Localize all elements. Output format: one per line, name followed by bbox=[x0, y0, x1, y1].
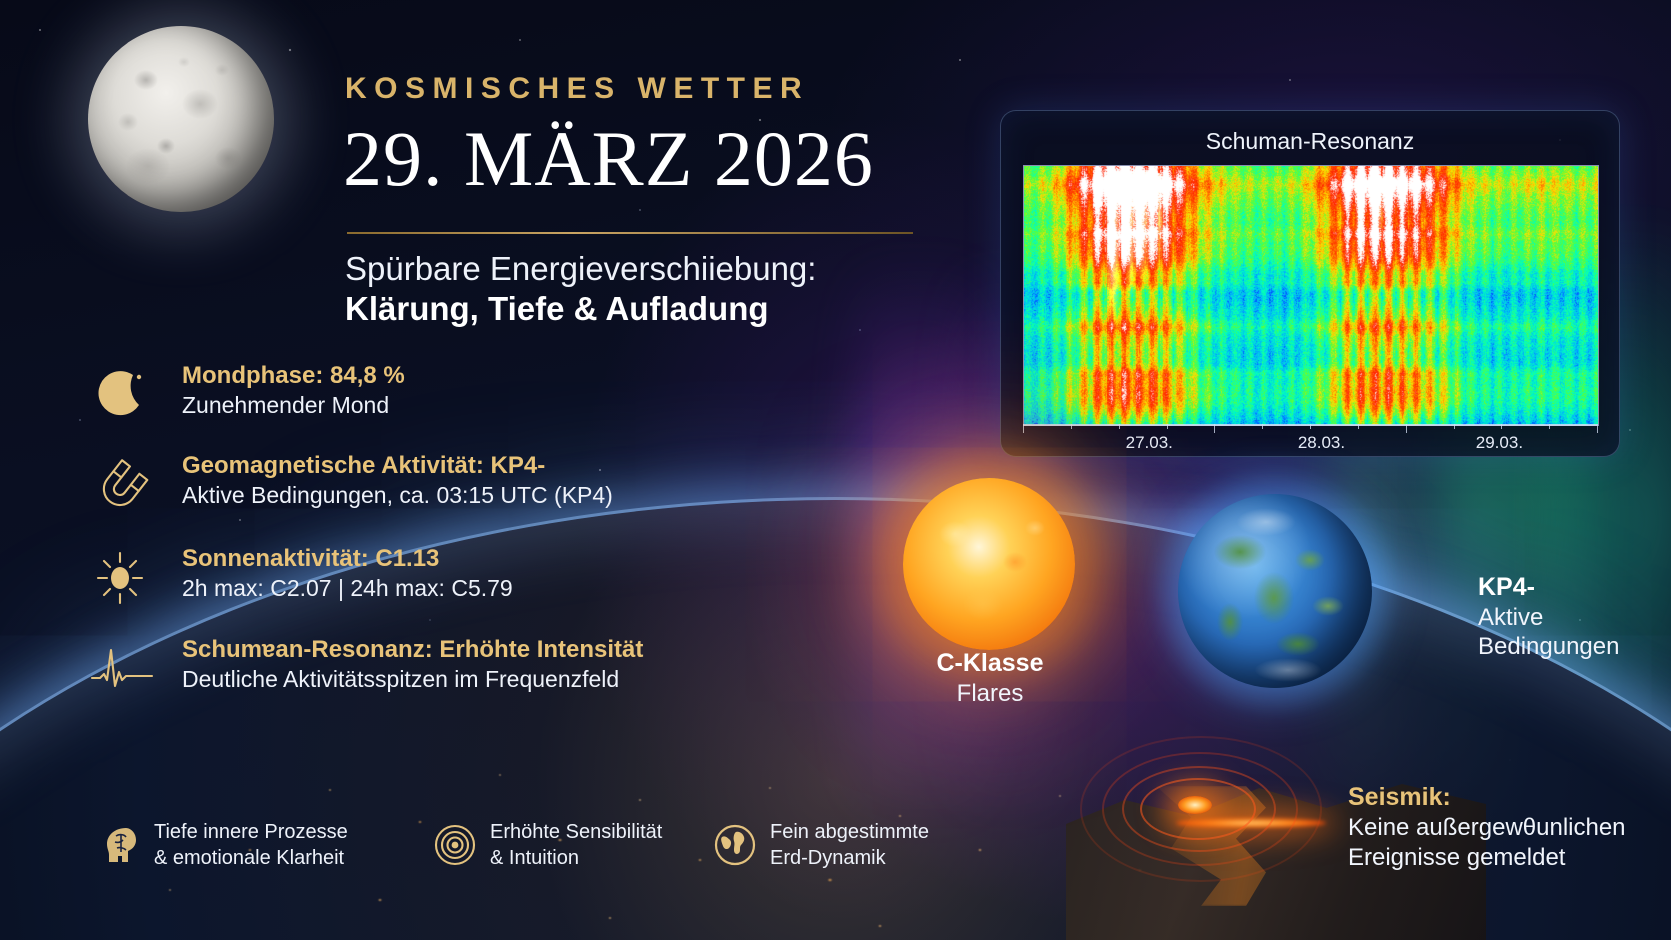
callout-line-1: Keine außergewθunlichen bbox=[1348, 813, 1626, 842]
bottom-item-line-1: Erhöhte Sensibilität bbox=[490, 819, 662, 845]
globe-icon bbox=[712, 822, 758, 868]
spectrogram-plot bbox=[1023, 165, 1599, 426]
stat-headline: Mondphase: 84,8 % bbox=[182, 362, 405, 390]
bottom-item-line-1: Tiefe innere Prozesse bbox=[154, 819, 348, 845]
waveform-icon bbox=[90, 638, 156, 698]
callout-title: KP4- bbox=[1478, 572, 1619, 603]
chart-tick bbox=[1454, 424, 1455, 429]
crescent-moon-icon bbox=[90, 364, 156, 424]
bottom-item-line-1: Fein abgestimmte bbox=[770, 819, 929, 845]
stat-subline: Zunehmender Mond bbox=[182, 392, 405, 419]
chart-tick bbox=[1549, 424, 1550, 429]
chart-tick bbox=[1167, 424, 1168, 429]
bottom-item-line-2: Erd-Dynamik bbox=[770, 845, 929, 871]
chart-tick bbox=[1358, 424, 1359, 429]
callout-line-2: Bedingungen bbox=[1478, 632, 1619, 661]
chart-tick bbox=[1119, 424, 1120, 429]
sun-image bbox=[903, 478, 1075, 650]
subtitle-line-1: Spürbare Energieverschiiebung: bbox=[345, 250, 816, 288]
callout-line-1: Aktive bbox=[1478, 603, 1619, 632]
magnet-icon bbox=[90, 454, 156, 514]
callout-kp-index: KP4- Aktive Bedingungen bbox=[1478, 572, 1619, 661]
chart-tick bbox=[1310, 424, 1311, 429]
title-divider bbox=[347, 232, 913, 234]
stat-subline: Aktive Bedingungen, ca. 03:15 UTC (KP4) bbox=[182, 482, 613, 509]
concentric-spiral-icon bbox=[432, 822, 478, 868]
callout-title: C-Klasse bbox=[905, 648, 1075, 679]
brain-head-icon bbox=[96, 822, 142, 868]
page-title: 29. MÄRZ 2026 bbox=[343, 120, 874, 198]
moon-image bbox=[88, 26, 274, 212]
stat-subline: Deutliche Aktivitätsspitzen im Frequenzf… bbox=[182, 666, 643, 693]
bottom-item-text: Tiefe innere Prozesse & emotionale Klarh… bbox=[154, 819, 348, 872]
earth-globe-image bbox=[1178, 494, 1372, 688]
chart-x-label: 27.03. bbox=[1126, 433, 1173, 453]
stat-headline: Schumɐan-Resonanz: Erhöhte Intensität bbox=[182, 636, 643, 664]
sun-icon bbox=[90, 547, 156, 607]
chart-x-label: 29.03. bbox=[1476, 433, 1523, 453]
chart-tick bbox=[1214, 424, 1215, 433]
bottom-item-text: Erhöhte Sensibilität & Intuition bbox=[490, 819, 662, 872]
callout-title: Seismik: bbox=[1348, 782, 1626, 813]
stat-headline: Geomagnetische Aktivität: KP4- bbox=[182, 452, 613, 480]
chart-tick bbox=[1071, 424, 1072, 429]
chart-x-label: 28.03. bbox=[1298, 433, 1345, 453]
chart-tick bbox=[1023, 424, 1024, 433]
chart-tick bbox=[1262, 424, 1263, 429]
infographic-canvas: KOSMISCHES WETTER 29. MÄRZ 2026 Spürbare… bbox=[0, 0, 1671, 940]
schumann-chart-panel: Schuman-Resonanz 27.03.28.03.29.03. bbox=[1000, 110, 1620, 457]
chart-tick bbox=[1597, 424, 1598, 433]
chart-title: Schuman-Resonanz bbox=[1001, 128, 1619, 155]
bottom-item-text: Fein abgestimmte Erd-Dynamik bbox=[770, 819, 929, 872]
lava-core bbox=[1178, 796, 1212, 814]
callout-sub: Flares bbox=[905, 679, 1075, 708]
subtitle-line-2: Klärung, Tiefe & Aufladung bbox=[345, 290, 769, 328]
page-kicker: KOSMISCHES WETTER bbox=[345, 72, 809, 106]
bottom-item-line-2: & emotionale Klarheit bbox=[154, 845, 348, 871]
stat-subline: 2h max: C2.07 | 24h max: C5.79 bbox=[182, 575, 513, 602]
callout-seismic: Seismik: Keine außergewθunlichen Ereigni… bbox=[1348, 782, 1626, 872]
bottom-item-line-2: & Intuition bbox=[490, 845, 662, 871]
callout-solar-flares: C-Klasse Flares bbox=[905, 648, 1075, 708]
callout-line-2: Ereignisse gemeldet bbox=[1348, 843, 1626, 872]
stat-headline: Sonnenaktivität: C1.13 bbox=[182, 545, 513, 573]
spectrogram-canvas bbox=[1024, 166, 1598, 425]
chart-tick bbox=[1406, 424, 1407, 433]
chart-tick bbox=[1501, 424, 1502, 429]
